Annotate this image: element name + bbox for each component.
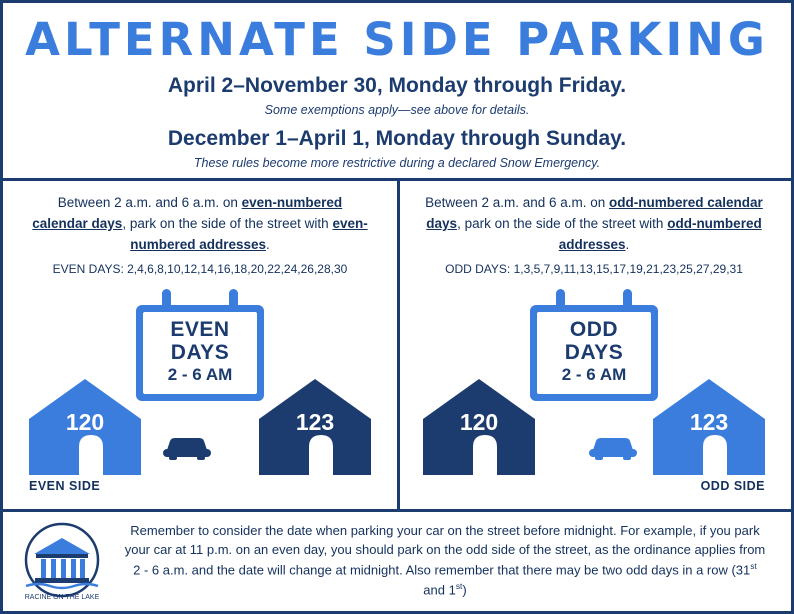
even-rule-part1: Between 2 a.m. and 6 a.m. on [58, 195, 242, 210]
footer-line-4a: remember that there may be two odd days … [435, 563, 751, 578]
even-house-left-number: 120 [29, 409, 141, 436]
rule-columns: Between 2 a.m. and 6 a.m. on even-number… [3, 181, 791, 509]
footer-sup-31st: st [750, 561, 757, 571]
season-rule-summer: April 2–November 30, Monday through Frid… [3, 74, 791, 98]
racine-on-the-lake-logo-icon: RACINE ON THE LAKE [14, 520, 110, 604]
even-calendar-rings [136, 289, 264, 305]
odd-days-list: ODD DAYS: 1,3,5,7,9,11,13,15,17,19,21,23… [397, 262, 791, 276]
even-houses-row: 120 123 EVEN SIDE [3, 363, 397, 493]
odd-house-left: 120 [423, 379, 535, 475]
season-rule-winter: December 1–April 1, Monday through Sunda… [3, 127, 791, 151]
even-days-panel: Between 2 a.m. and 6 a.m. on even-number… [3, 181, 397, 509]
car-icon [161, 432, 213, 462]
exemptions-note: Some exemptions apply—see above for deta… [3, 103, 791, 117]
odd-calendar-line2: DAYS [541, 342, 647, 365]
odd-rule-part3: . [626, 237, 630, 252]
odd-rule-text: Between 2 a.m. and 6 a.m. on odd-numbere… [397, 181, 791, 256]
even-house-left: 120 [29, 379, 141, 475]
odd-house-right: 123 [653, 379, 765, 475]
footer-line-4b: and 1 [423, 583, 456, 598]
city-logo: RACINE ON THE LAKE [3, 520, 121, 604]
odd-rule-part1: Between 2 a.m. and 6 a.m. on [425, 195, 609, 210]
even-rule-text: Between 2 a.m. and 6 a.m. on even-number… [3, 181, 397, 256]
snow-emergency-note: These rules become more restrictive duri… [3, 156, 791, 170]
odd-rule-part2: , park on the side of the street with [457, 216, 667, 231]
car-icon-odd [587, 432, 639, 467]
even-rule-part2: , park on the side of the street with [122, 216, 332, 231]
alternate-side-parking-infographic: ALTERNATE SIDE PARKING April 2–November … [0, 0, 794, 614]
odd-calendar-line1: ODD [541, 319, 647, 342]
odd-house-left-number: 120 [423, 409, 535, 436]
odd-house-right-number: 123 [653, 409, 765, 436]
even-days-list: EVEN DAYS: 2,4,6,8,10,12,14,16,18,20,22,… [3, 262, 397, 276]
footer: RACINE ON THE LAKE Remember to consider … [3, 512, 791, 611]
car-icon-even [161, 432, 213, 467]
odd-calendar-rings [530, 289, 658, 305]
even-house-right: 123 [259, 379, 371, 475]
header: ALTERNATE SIDE PARKING April 2–November … [3, 3, 791, 170]
even-side-label: EVEN SIDE [29, 479, 100, 493]
footer-line-4c: ) [462, 583, 466, 598]
even-calendar-line1: EVEN [147, 319, 253, 342]
car-icon [587, 432, 639, 462]
page-title: ALTERNATE SIDE PARKING [3, 17, 791, 62]
even-rule-part3: . [266, 237, 270, 252]
even-calendar-line2: DAYS [147, 342, 253, 365]
even-house-right-number: 123 [259, 409, 371, 436]
odd-side-label: ODD SIDE [701, 479, 765, 493]
odd-houses-row: 120 123 ODD SIDE [397, 363, 791, 493]
footer-line-1: Remember to consider the date when parki… [130, 523, 639, 538]
logo-text: RACINE ON THE LAKE [25, 594, 100, 601]
odd-days-panel: Between 2 a.m. and 6 a.m. on odd-numbere… [397, 181, 791, 509]
footer-note: Remember to consider the date when parki… [121, 522, 791, 600]
